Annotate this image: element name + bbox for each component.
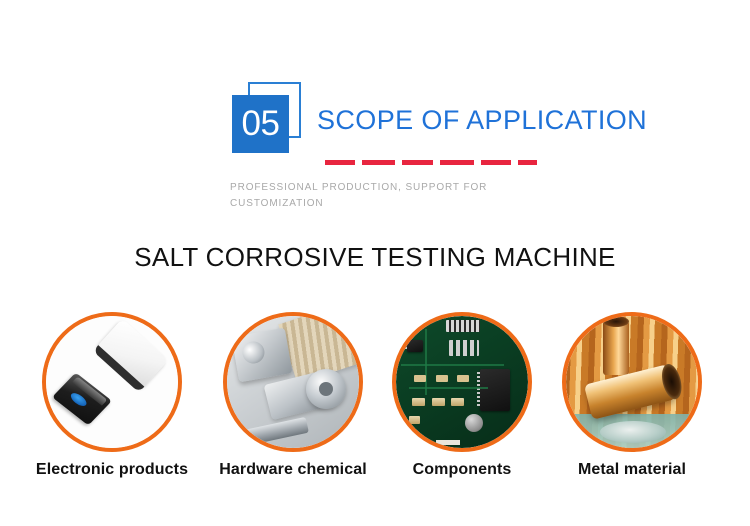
pcb-trace [409,387,488,389]
category-thumbnail [392,312,532,452]
hardware-parts-scene [227,316,359,448]
divider-dash [518,160,537,165]
pcb-resistor [457,375,469,382]
category-label: Electronic products [22,461,202,479]
bearing-ring-shape [306,369,346,409]
category-item-metal-material: Metal material [542,312,722,479]
pcb-capacitor [451,398,464,406]
circle-frame [392,312,532,452]
header-block: 05 SCOPE OF APPLICATION PROFESSIONAL PRO… [0,0,750,230]
pcb-transistor [465,414,483,432]
copper-rolls-scene [566,316,698,448]
copper-roll-shape [584,364,676,420]
metal-bar-shape [237,417,309,447]
divider-dash [325,160,355,165]
section-subtitle: PROFESSIONAL PRODUCTION, SUPPORT FOR CUS… [230,180,490,212]
pcb-resistor [436,375,448,382]
hardware-chemical-photo [227,316,359,448]
pcb-scene [396,316,528,448]
category-thumbnail [42,312,182,452]
pcb-connector [449,340,479,356]
divider-dash [440,160,474,165]
pcb-trace [401,364,504,366]
category-item-electronic-products: Electronic products [22,312,202,479]
circle-frame [42,312,182,452]
application-scope-banner: 05 SCOPE OF APPLICATION PROFESSIONAL PRO… [0,0,750,526]
category-label: Hardware chemical [203,461,383,479]
pcb-capacitor [432,398,445,406]
pcb-small-chip [407,340,423,352]
copper-pipe-shape [603,321,629,375]
white-power-bank-shape [96,319,169,390]
divider-dash [481,160,511,165]
section-number-badge: 05 [230,80,306,156]
subtitle-line-1: PROFESSIONAL PRODUCTION, SUPPORT FOR [230,182,487,193]
electronic-products-scene [46,316,178,448]
category-thumbnail [223,312,363,452]
circle-frame [223,312,363,452]
machined-block-shape [231,327,292,382]
application-categories: Electronic products Hardware [0,312,750,512]
electronic-products-photo [46,316,178,448]
badge-filled-square: 05 [232,95,289,153]
dashed-divider [325,160,537,165]
subtitle-line-2: CUSTOMIZATION [230,196,490,212]
divider-dash [402,160,433,165]
metal-material-photo [566,316,698,448]
black-device-shape [52,373,112,426]
pcb-capacitor [409,416,420,424]
category-item-hardware-chemical: Hardware chemical [203,312,383,479]
pcb-edge-connector [436,440,460,445]
page-title: SALT CORROSIVE TESTING MACHINE [0,243,750,272]
pcb-resistor [414,375,426,382]
metal-disc-shape [600,421,666,443]
category-thumbnail [562,312,702,452]
category-item-components: Components [372,312,552,479]
category-label: Metal material [542,461,722,479]
components-pcb-photo [396,316,528,448]
pcb-ic-chip [480,369,510,411]
divider-dash [362,160,395,165]
badge-number-text: 05 [242,106,280,143]
pcb-trace [425,329,427,395]
pcb-capacitor [412,398,425,406]
category-label: Components [372,461,552,479]
section-title: SCOPE OF APPLICATION [317,107,647,134]
pcb-connector [446,320,480,332]
circle-frame [562,312,702,452]
